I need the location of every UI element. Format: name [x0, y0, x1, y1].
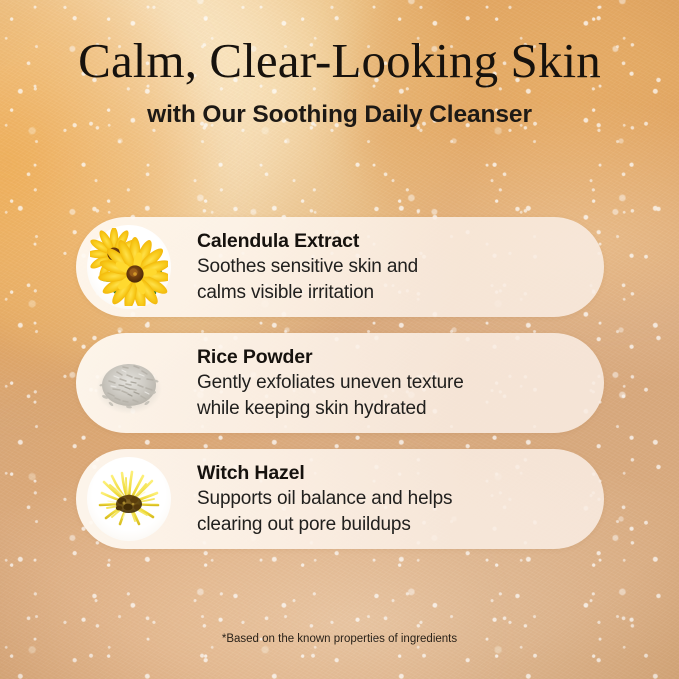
- page-subtitle: with Our Soothing Daily Cleanser: [0, 99, 679, 130]
- ingredient-description-line-2: clearing out pore buildups: [197, 512, 590, 538]
- rice-powder-text-block: Rice Powder Gently exfoliates uneven tex…: [171, 345, 604, 421]
- ingredient-description: Soothes sensitive skin and calms visible…: [197, 254, 590, 305]
- ingredient-description: Supports oil balance and helps clearing …: [197, 486, 590, 537]
- witch-hazel-icon-disc: [87, 457, 171, 541]
- ingredient-title: Calendula Extract: [197, 229, 590, 253]
- rice-powder-icon-area: [87, 341, 171, 425]
- ingredient-card-rice-powder[interactable]: Rice Powder Gently exfoliates uneven tex…: [76, 333, 604, 433]
- calendula-icon-disc: [87, 225, 171, 309]
- ingredient-description: Gently exfoliates uneven texture while k…: [197, 370, 590, 421]
- ingredient-title: Rice Powder: [197, 345, 590, 369]
- content-layer: Calm, Clear-Looking Skin with Our Soothi…: [0, 0, 679, 679]
- ingredient-list: Calendula Extract Soothes sensitive skin…: [76, 217, 604, 549]
- infographic-canvas: Calm, Clear-Looking Skin with Our Soothi…: [0, 0, 679, 679]
- ingredient-description-line-1: Supports oil balance and helps: [197, 486, 590, 512]
- ingredient-card-calendula[interactable]: Calendula Extract Soothes sensitive skin…: [76, 217, 604, 317]
- ingredient-title: Witch Hazel: [197, 461, 590, 485]
- ingredient-description-line-1: Gently exfoliates uneven texture: [197, 370, 590, 396]
- disclaimer-footnote: *Based on the known properties of ingred…: [0, 632, 679, 647]
- witch-hazel-flower-icon: [90, 460, 168, 538]
- calendula-flower-icon: [90, 228, 168, 306]
- page-title: Calm, Clear-Looking Skin: [0, 33, 679, 89]
- ingredient-description-line-2: calms visible irritation: [197, 280, 590, 306]
- ingredient-description-line-1: Soothes sensitive skin and: [197, 254, 590, 280]
- ingredient-card-witch-hazel[interactable]: Witch Hazel Supports oil balance and hel…: [76, 449, 604, 549]
- calendula-text-block: Calendula Extract Soothes sensitive skin…: [171, 229, 604, 305]
- rice-powder-icon: [89, 343, 169, 423]
- witch-hazel-text-block: Witch Hazel Supports oil balance and hel…: [171, 461, 604, 537]
- ingredient-description-line-2: while keeping skin hydrated: [197, 396, 590, 422]
